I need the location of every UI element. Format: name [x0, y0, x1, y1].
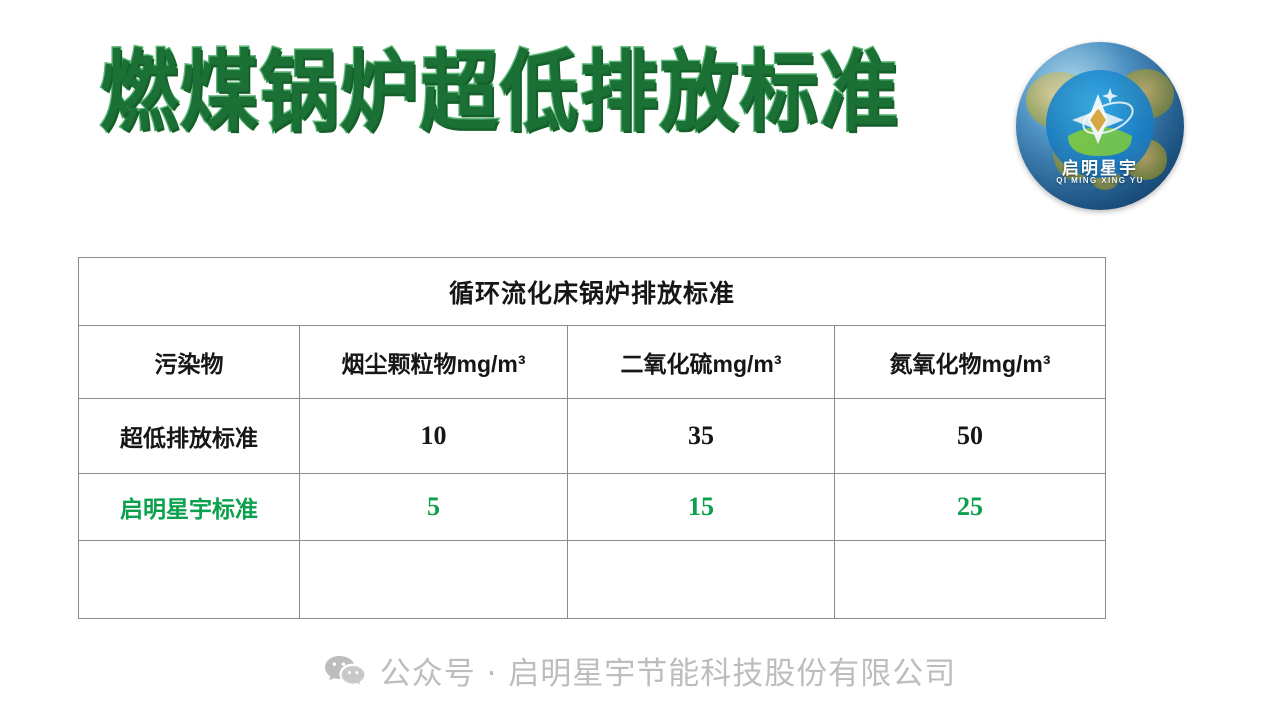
footer: 公众号 · 启明星宇节能科技股份有限公司	[0, 648, 1280, 693]
page-title-container: 燃煤锅炉超低排放标准	[0, 38, 1000, 148]
table-title: 循环流化床锅炉排放标准	[79, 258, 1106, 326]
table-row	[79, 541, 1106, 619]
slide-root: 燃煤锅炉超低排放标准 启明星宇 QI MING XING YU	[0, 0, 1280, 720]
row-value-nox: 25	[835, 474, 1106, 541]
row-label-ultra-low: 超低排放标准	[79, 399, 300, 474]
row-value-particulate: 5	[300, 474, 568, 541]
table-header-row: 污染物 烟尘颗粒物mg/m³ 二氧化硫mg/m³ 氮氧化物mg/m³	[79, 326, 1106, 399]
column-header-pollutant: 污染物	[79, 326, 300, 399]
company-logo: 启明星宇 QI MING XING YU	[1016, 42, 1184, 210]
column-header-particulate-unit: mg/m³	[457, 351, 526, 377]
row-value-particulate	[300, 541, 568, 619]
column-header-nox: 氮氧化物mg/m³	[835, 326, 1106, 399]
row-value-so2	[568, 541, 835, 619]
column-header-particulate: 烟尘颗粒物mg/m³	[300, 326, 568, 399]
column-header-particulate-label: 烟尘颗粒物	[342, 352, 457, 378]
row-label-empty	[79, 541, 300, 619]
row-value-particulate: 10	[300, 399, 568, 474]
row-value-nox	[835, 541, 1106, 619]
table-row: 启明星宇标准 5 15 25	[79, 474, 1106, 541]
table-row: 超低排放标准 10 35 50	[79, 399, 1106, 474]
column-header-pollutant-label: 污染物	[155, 352, 224, 378]
column-header-nox-unit: mg/m³	[982, 351, 1051, 377]
row-value-nox: 50	[835, 399, 1106, 474]
footer-text: 公众号 · 启明星宇节能科技股份有限公司	[380, 648, 957, 693]
column-header-so2: 二氧化硫mg/m³	[568, 326, 835, 399]
column-header-so2-label: 二氧化硫	[621, 352, 713, 378]
page-title: 燃煤锅炉超低排放标准	[100, 49, 900, 136]
logo-name-en: QI MING XING YU	[1016, 176, 1184, 185]
table-title-row: 循环流化床锅炉排放标准	[79, 258, 1106, 326]
row-value-so2: 15	[568, 474, 835, 541]
row-label-qimingxingyu: 启明星宇标准	[79, 474, 300, 541]
wechat-icon	[324, 654, 366, 688]
row-value-so2: 35	[568, 399, 835, 474]
emission-standard-table: 循环流化床锅炉排放标准 污染物 烟尘颗粒物mg/m³ 二氧化硫mg/m³ 氮氧化…	[78, 257, 1106, 619]
column-header-nox-label: 氮氧化物	[890, 352, 982, 378]
emission-standard-table-container: 循环流化床锅炉排放标准 污染物 烟尘颗粒物mg/m³ 二氧化硫mg/m³ 氮氧化…	[78, 257, 1105, 619]
column-header-so2-unit: mg/m³	[713, 351, 782, 377]
wechat-icon-svg	[324, 654, 366, 688]
